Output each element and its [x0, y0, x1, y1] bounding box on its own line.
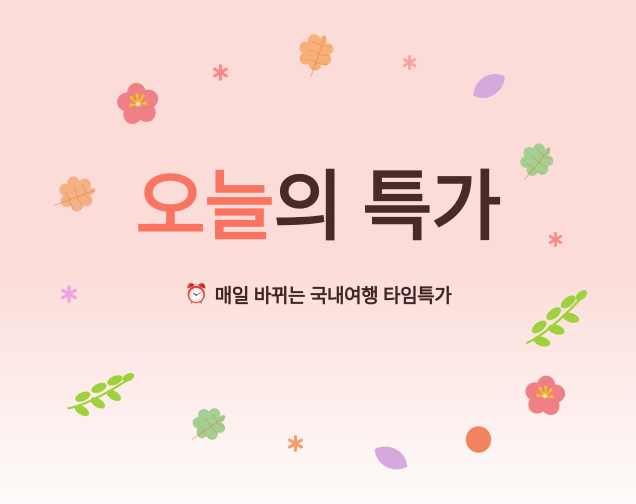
promo-banner: 오늘의 특가 ⏰ 매일 바뀌는 국내여행 타임특가 [0, 0, 636, 504]
banner-subtitle-label: 매일 바뀌는 국내여행 타임특가 [215, 281, 452, 308]
page-title-accent: 오늘 [136, 165, 274, 250]
page-title-base: 의 특가 [273, 165, 500, 250]
page-title: 오늘의 특가 [136, 168, 501, 248]
alarm-clock-icon: ⏰ [185, 285, 208, 304]
banner-subtitle: ⏰ 매일 바뀌는 국내여행 타임특가 [185, 281, 452, 308]
banner-text-stack: 오늘의 특가 ⏰ 매일 바뀌는 국내여행 타임특가 [0, 0, 636, 504]
